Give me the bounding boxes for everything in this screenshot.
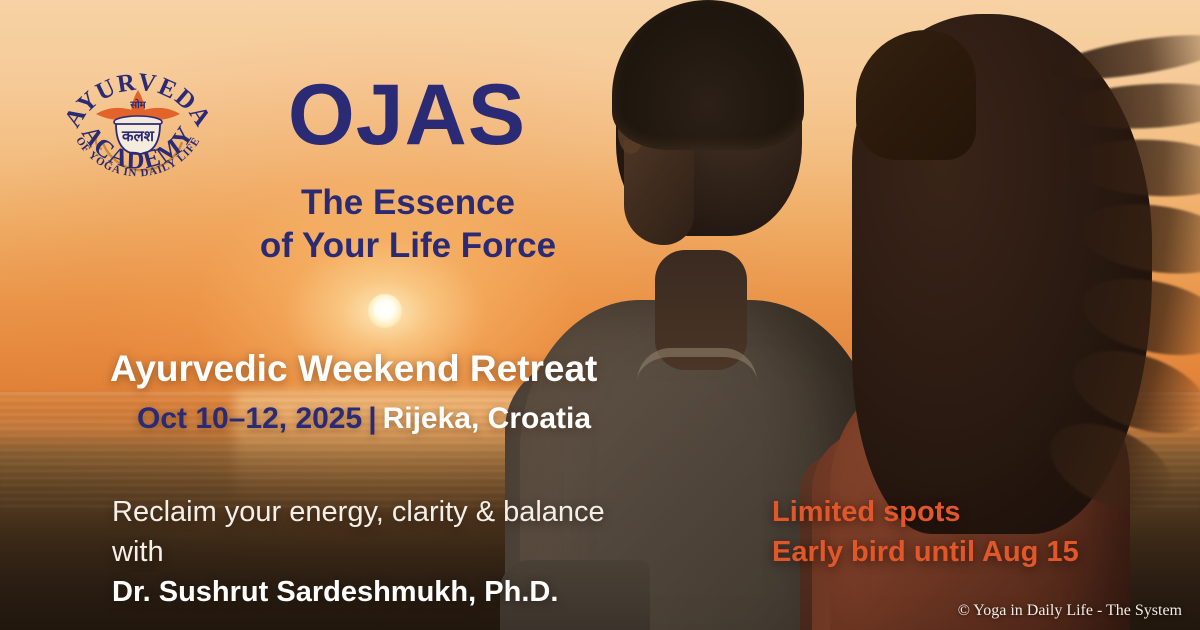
tagline-line-2: with Dr. Sushrut Sardeshmukh, Ph.D. xyxy=(112,532,605,612)
emblem-kalash-text: कलश xyxy=(121,127,155,145)
cta-limited-spots: Limited spots xyxy=(772,492,1079,532)
event-headline: Ayurvedic Weekend Retreat xyxy=(110,348,597,390)
footer-credit: © Yoga in Daily Life - The System xyxy=(958,602,1182,620)
dateline-separator: | xyxy=(362,402,382,435)
presenter-name: Dr. Sushrut Sardeshmukh, Ph.D. xyxy=(112,576,558,608)
poster-title: OJAS xyxy=(252,72,562,160)
emblem-soma-text: सोम xyxy=(129,98,146,111)
poster-subtitle: The Essence of Your Life Force xyxy=(212,182,604,267)
ayurveda-academy-logo[interactable]: सोम कलश AYURVEDA ACADEMY OF YOGA IN DAIL… xyxy=(62,48,214,198)
cta-early-bird: Early bird until Aug 15 xyxy=(772,532,1079,572)
tagline-prefix: with xyxy=(112,532,605,572)
tagline: Reclaim your energy, clarity & balance w… xyxy=(112,492,605,612)
sun-icon xyxy=(368,294,402,328)
event-dateline: Oct 10–12, 2025|Rijeka, Croatia xyxy=(137,402,591,436)
subtitle-line-1: The Essence xyxy=(212,182,604,225)
promo-poster: सोम कलश AYURVEDA ACADEMY OF YOGA IN DAIL… xyxy=(0,0,1200,630)
event-location: Rijeka, Croatia xyxy=(383,402,591,435)
tagline-line-1: Reclaim your energy, clarity & balance xyxy=(112,492,605,532)
event-date: Oct 10–12, 2025 xyxy=(137,402,362,435)
subtitle-line-2: of Your Life Force xyxy=(212,225,604,268)
cta-block: Limited spots Early bird until Aug 15 xyxy=(772,492,1079,572)
